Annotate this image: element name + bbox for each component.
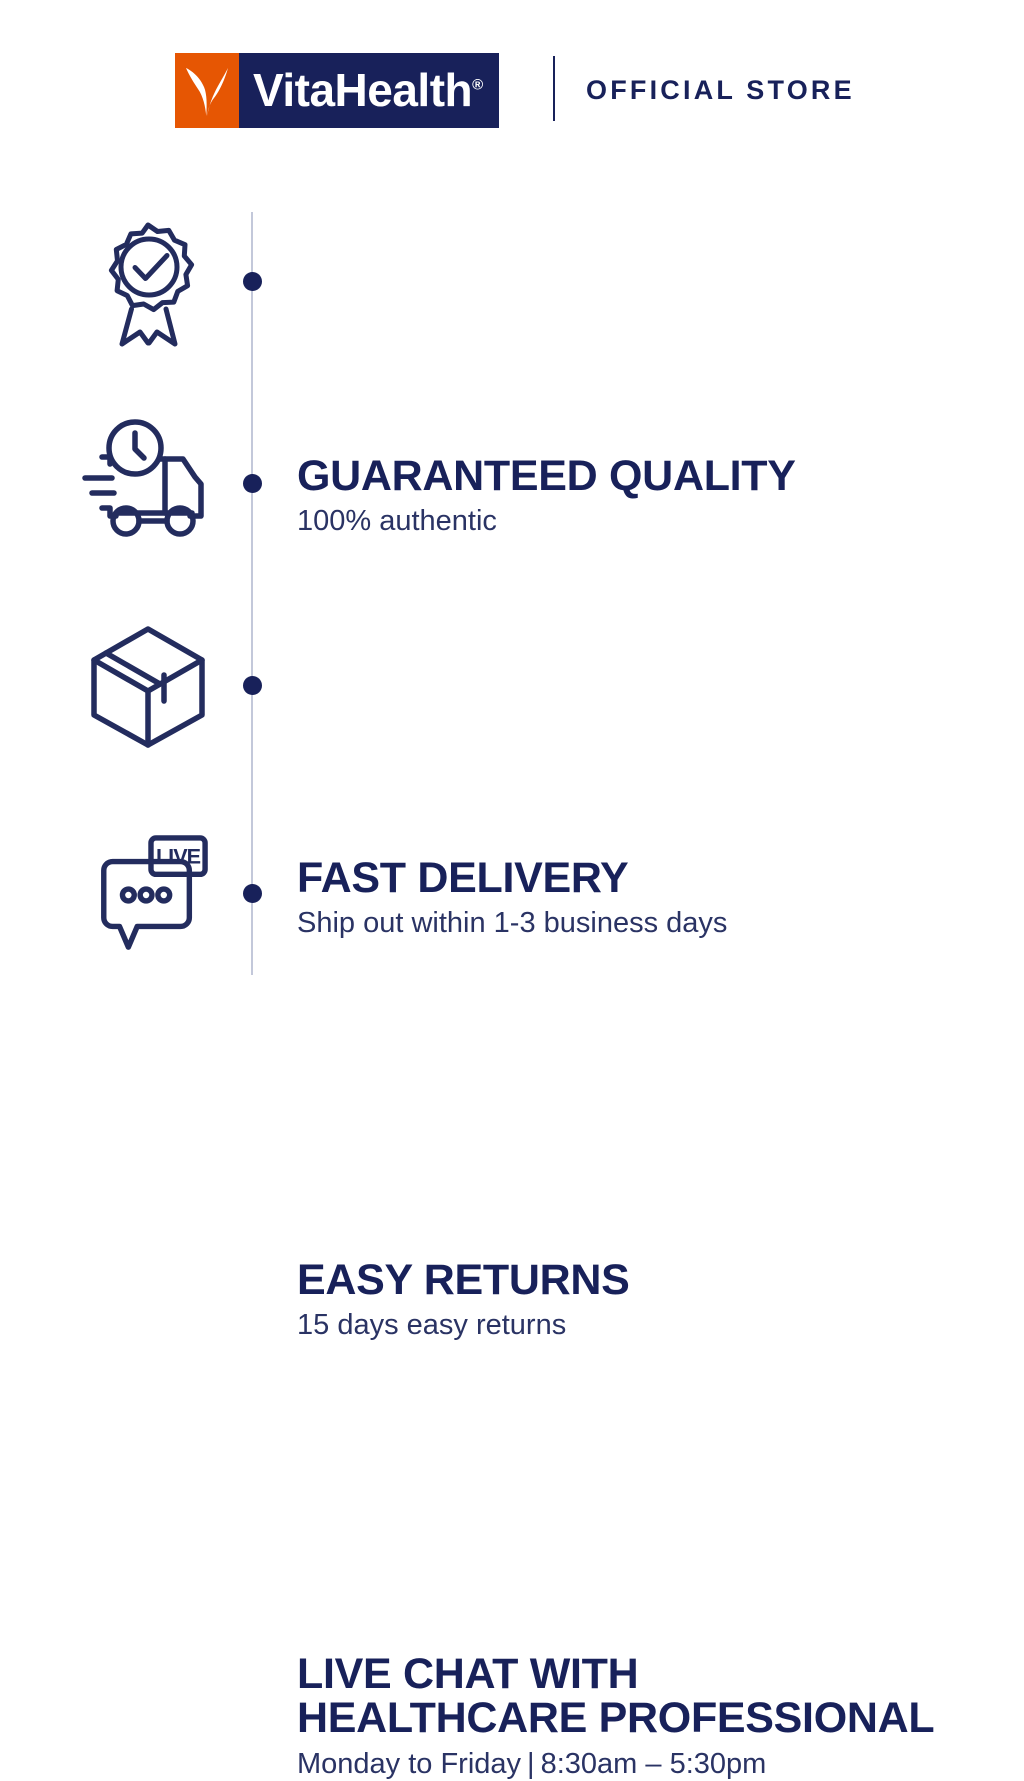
package-box-icon bbox=[86, 620, 211, 750]
feature-text-easy-returns: EASY RETURNS 15 days easy returns bbox=[297, 1258, 630, 1343]
live-chat-icon: LIVE bbox=[90, 830, 210, 960]
delivery-truck-icon bbox=[82, 418, 214, 538]
header: VitaHealth® OFFICIAL STORE bbox=[0, 0, 1024, 180]
feature-title: EASY RETURNS bbox=[297, 1258, 630, 1302]
live-chat-days: Monday to Friday bbox=[297, 1748, 521, 1780]
feature-subtitle: 15 days easy returns bbox=[297, 1308, 630, 1343]
feature-title-line-1: LIVE CHAT WITH bbox=[297, 1652, 934, 1696]
registered-trademark-icon: ® bbox=[472, 76, 483, 93]
svg-text:LIVE: LIVE bbox=[156, 844, 201, 869]
quality-badge-icon bbox=[93, 218, 203, 348]
brand-name-plate: VitaHealth® bbox=[239, 53, 499, 128]
brand-name: VitaHealth® bbox=[253, 67, 483, 113]
live-chat-hours: 8:30am – 5:30pm bbox=[541, 1748, 767, 1780]
live-chat-separator: | bbox=[521, 1748, 541, 1780]
feature-item-fast-delivery: FAST DELIVERY Ship out within 1-3 busine… bbox=[0, 418, 1024, 538]
feature-item-easy-returns: EASY RETURNS 15 days easy returns bbox=[0, 620, 1024, 750]
feature-item-live-chat: LIVE LIVE CHAT WITH HEALTHCARE PROFESSIO… bbox=[0, 830, 1024, 960]
header-divider bbox=[553, 56, 555, 121]
brand-logo[interactable]: VitaHealth® bbox=[175, 53, 499, 128]
feature-subtitle: Monday to Friday|8:30am – 5:30pm bbox=[297, 1747, 934, 1781]
feature-item-guaranteed-quality: GUARANTEED QUALITY 100% authentic bbox=[0, 218, 1024, 348]
official-store-label: OFFICIAL STORE bbox=[586, 75, 855, 106]
feature-title-line-2: HEALTHCARE PROFESSIONAL bbox=[297, 1696, 934, 1740]
feature-text-live-chat: LIVE CHAT WITH HEALTHCARE PROFESSIONAL M… bbox=[297, 1652, 934, 1781]
vitahealth-leaf-icon bbox=[175, 53, 239, 128]
